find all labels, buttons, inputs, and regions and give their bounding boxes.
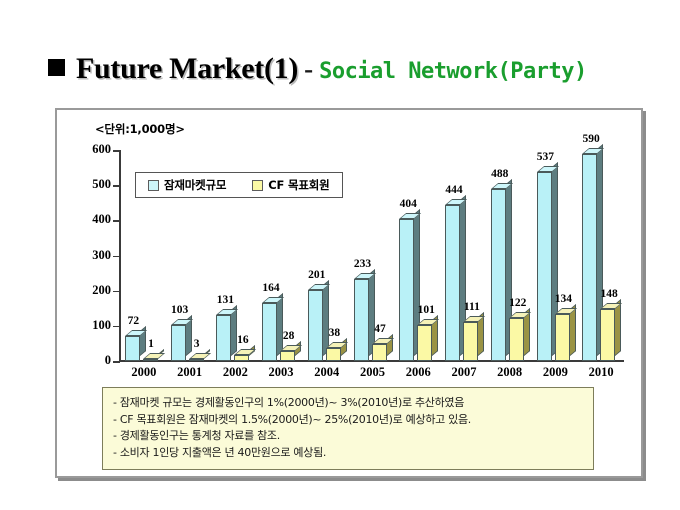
bar: 134 <box>555 314 570 361</box>
x-axis-label: 2007 <box>451 365 476 380</box>
legend-swatch-icon <box>252 180 263 191</box>
y-axis-label: 600 <box>57 142 111 157</box>
bar: 3 <box>189 359 204 361</box>
legend-label: CF 목표회원 <box>268 177 329 193</box>
bar: 47 <box>372 344 387 361</box>
bar: 201 <box>308 290 323 361</box>
bar-value-label: 72 <box>128 315 140 327</box>
bar-face <box>354 279 369 361</box>
bar-value-label: 134 <box>555 293 572 305</box>
bar-value-label: 148 <box>601 288 618 300</box>
bar-face <box>445 205 460 361</box>
bar-group: 23347 <box>350 150 396 361</box>
bar: 16 <box>234 355 249 361</box>
footnote-line: - 경제활동인구는 통계청 자료를 참조. <box>113 428 583 445</box>
y-axis-label: 400 <box>57 212 111 227</box>
bar-value-label: 47 <box>374 323 386 335</box>
bar-face <box>537 172 552 361</box>
bar-group: 404101 <box>395 150 441 361</box>
bar-face <box>600 309 615 361</box>
footnote-line: - 잠재마켓 규모는 경제활동인구의 1%(2000년)~ 3%(2010년)로… <box>113 395 583 412</box>
bar-value-label: 488 <box>491 168 508 180</box>
y-axis-label: 200 <box>57 283 111 298</box>
title-separator-dash: - <box>304 54 313 85</box>
legend-swatch-icon <box>148 180 159 191</box>
x-axis-labels: 2000200120022003200420052006200720082009… <box>121 365 624 385</box>
chart-legend: 잠재마켓규모 CF 목표회원 <box>135 172 343 198</box>
bar-value-label: 3 <box>194 338 200 350</box>
bar-value-label: 590 <box>583 133 600 145</box>
bar-value-label: 404 <box>400 198 417 210</box>
bar-face <box>143 359 158 361</box>
square-bullet-icon <box>48 59 65 76</box>
slide-title: Future Market(1) - Social Network(Party) <box>48 52 587 86</box>
bar-value-label: 111 <box>464 301 480 313</box>
bar-face <box>326 348 341 361</box>
footnote-line: - CF 목표회원은 잠재마켓의 1.5%(2000년)~ 25%(2010년)… <box>113 412 583 429</box>
bar-value-label: 101 <box>418 304 435 316</box>
bar-group: 444111 <box>441 150 487 361</box>
bar-face <box>189 359 204 361</box>
x-axis-label: 2000 <box>131 365 156 380</box>
bar: 233 <box>354 279 369 361</box>
y-axis-label: 300 <box>57 248 111 263</box>
y-axis-tick <box>113 185 120 187</box>
legend-label: 잠재마켓규모 <box>164 177 226 193</box>
bar-face <box>509 318 524 361</box>
legend-item-cf-target-members: CF 목표회원 <box>252 177 329 193</box>
bar-face <box>463 322 478 361</box>
y-axis-label: 0 <box>57 353 111 368</box>
bar-face <box>171 325 186 361</box>
bar: 444 <box>445 205 460 361</box>
bar-group: 590148 <box>578 150 624 361</box>
bar-value-label: 103 <box>171 304 188 316</box>
footnote-box: - 잠재마켓 규모는 경제활동인구의 1%(2000년)~ 3%(2010년)로… <box>102 387 594 470</box>
bar-face <box>234 355 249 361</box>
bar-value-label: 444 <box>445 184 462 196</box>
bar: 28 <box>280 351 295 361</box>
bar: 148 <box>600 309 615 361</box>
bar-face <box>372 344 387 361</box>
bar-value-label: 38 <box>329 327 341 339</box>
title-subtitle-text: Social Network(Party) <box>319 59 587 84</box>
x-axis-label: 2003 <box>269 365 294 380</box>
bar-face <box>417 325 432 361</box>
y-axis-tick <box>113 220 120 222</box>
bar-value-label: 201 <box>308 269 325 281</box>
bar-face <box>582 154 597 361</box>
bar: 537 <box>537 172 552 361</box>
x-axis-label: 2004 <box>314 365 339 380</box>
bar-value-label: 16 <box>237 334 249 346</box>
bar-top <box>143 353 165 359</box>
bar-face <box>491 189 506 361</box>
bar: 103 <box>171 325 186 361</box>
x-axis-label: 2006 <box>406 365 431 380</box>
x-axis-label: 2008 <box>497 365 522 380</box>
x-axis-label: 2010 <box>589 365 614 380</box>
content-panel: <단위:1,000명> 0100200300400500600 72110331… <box>55 108 643 478</box>
y-axis-label: 100 <box>57 318 111 333</box>
legend-item-potential-market: 잠재마켓규모 <box>148 177 226 193</box>
bar-side <box>277 293 283 356</box>
bar-top <box>189 353 211 359</box>
bar-group: 488122 <box>487 150 533 361</box>
y-axis-tick <box>113 361 120 363</box>
bar: 101 <box>417 325 432 361</box>
bar-value-label: 122 <box>509 297 526 309</box>
x-axis-label: 2002 <box>223 365 248 380</box>
bar: 164 <box>262 303 277 361</box>
bar-face <box>555 314 570 361</box>
bar: 1 <box>143 359 158 361</box>
y-axis-tick <box>113 291 120 293</box>
bar: 111 <box>463 322 478 361</box>
bar-face <box>262 303 277 361</box>
bar-face <box>308 290 323 361</box>
bar: 72 <box>125 336 140 361</box>
bar: 38 <box>326 348 341 361</box>
bar: 131 <box>216 315 231 361</box>
bar: 488 <box>491 189 506 361</box>
bar: 122 <box>509 318 524 361</box>
y-axis-label: 500 <box>57 177 111 192</box>
bar-top <box>234 349 256 355</box>
bar-value-label: 537 <box>537 151 554 163</box>
bar-value-label: 131 <box>217 294 234 306</box>
bar-value-label: 164 <box>262 282 279 294</box>
y-axis-tick <box>113 150 120 152</box>
x-axis-label: 2005 <box>360 365 385 380</box>
bar-value-label: 1 <box>148 338 154 350</box>
bar-face <box>216 315 231 361</box>
bar-value-label: 28 <box>283 330 295 342</box>
bar-group: 537134 <box>533 150 579 361</box>
title-main-text: Future Market(1) <box>76 52 298 86</box>
x-axis-label: 2009 <box>543 365 568 380</box>
bar-face <box>280 351 295 361</box>
bar-value-label: 233 <box>354 258 371 270</box>
bar: 404 <box>399 219 414 361</box>
x-axis-label: 2001 <box>177 365 202 380</box>
bar-face <box>125 336 140 361</box>
bar: 590 <box>582 154 597 361</box>
y-axis-tick <box>113 326 120 328</box>
y-axis-tick <box>113 256 120 258</box>
bar-face <box>399 219 414 361</box>
footnote-line: - 소비자 1인당 지출액은 년 40만원으로 예상됨. <box>113 445 583 462</box>
